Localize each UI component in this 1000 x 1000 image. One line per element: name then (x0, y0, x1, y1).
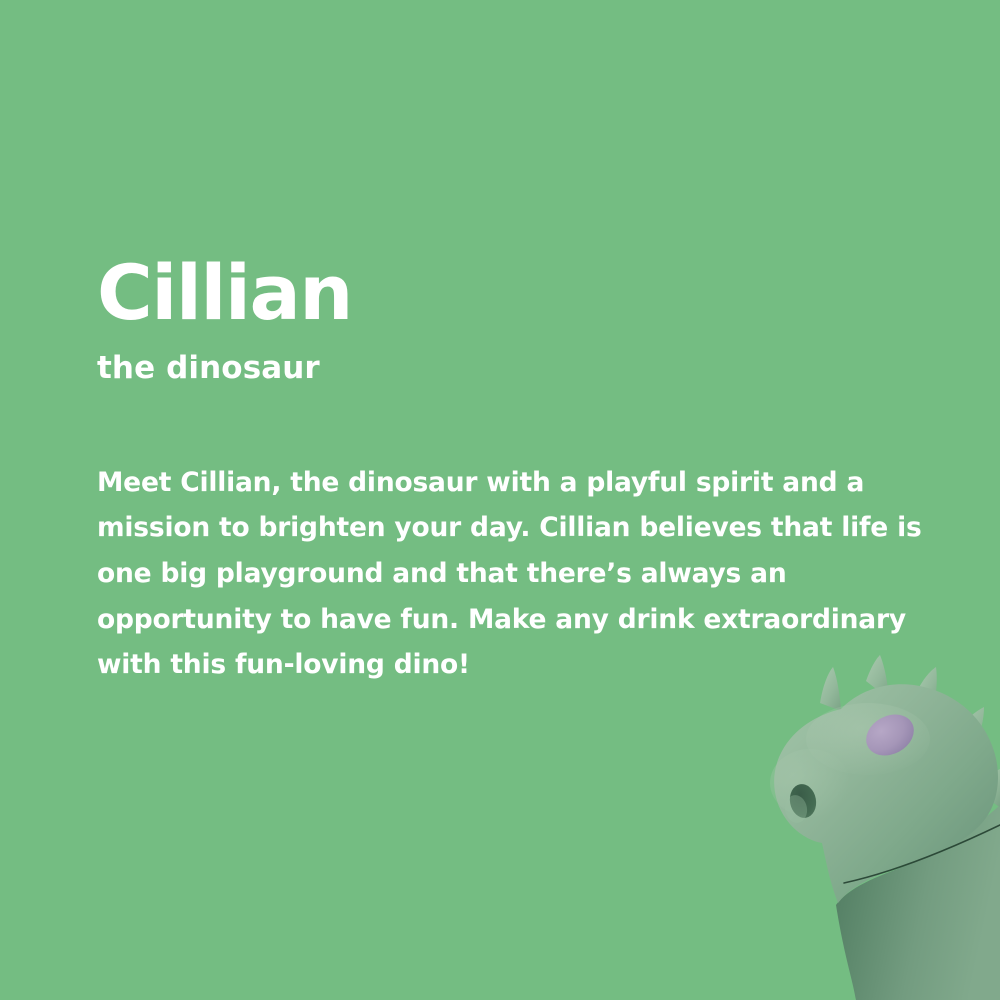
dinosaur-head (774, 684, 998, 903)
cillian-character-card: Cillian the dinosaur Meet Cillian, the d… (0, 0, 1000, 1000)
dinosaur-snout-highlight (770, 749, 850, 817)
dinosaur-eye (859, 706, 921, 763)
description-paragraph: Meet Cillian, the dinosaur with a playfu… (97, 460, 969, 688)
dinosaur-nostril (787, 782, 819, 820)
dinosaur-neck-seam (844, 825, 1000, 883)
dinosaur-illustration (740, 655, 1000, 1000)
dinosaur-nostril-highlight (783, 793, 810, 824)
text-content-block: Cillian the dinosaur Meet Cillian, the d… (97, 258, 977, 688)
dinosaur-brow-highlight (806, 703, 930, 775)
page-title: Cillian (97, 258, 977, 328)
page-subtitle: the dinosaur (97, 350, 977, 386)
dinosaur-spike-5 (978, 769, 1000, 807)
dinosaur-neck (836, 805, 1000, 1000)
dinosaur-spike-4 (956, 707, 984, 753)
